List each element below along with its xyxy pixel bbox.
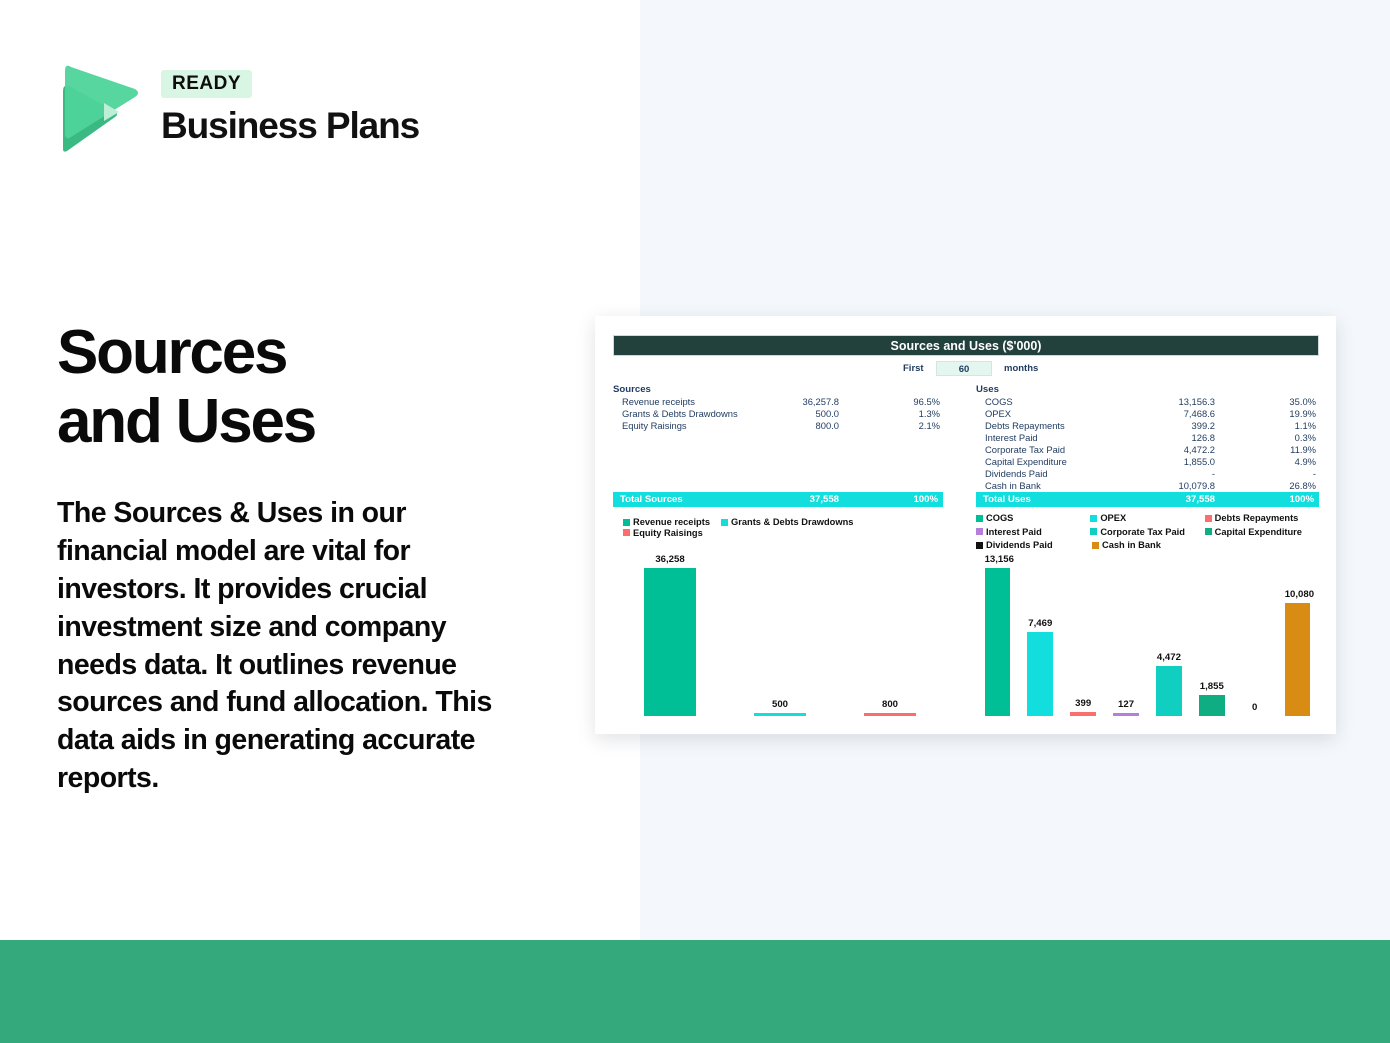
sources-row-value: 36,257.8 xyxy=(803,396,840,408)
sources-rows: Revenue receipts36,257.896.5%Grants & De… xyxy=(613,396,943,432)
sources-row-label: Grants & Debts Drawdowns xyxy=(622,408,738,420)
sources-total-label: Total Sources xyxy=(620,492,683,507)
uses-row-pct: 1.1% xyxy=(1295,420,1316,432)
bar-value-label: 10,080 xyxy=(1285,589,1311,600)
legend-swatch-icon xyxy=(976,515,983,522)
brand-logo[interactable]: READY Business Plans xyxy=(57,58,437,158)
table-row: Revenue receipts36,257.896.5% xyxy=(613,396,943,408)
table-row: OPEX7,468.619.9% xyxy=(976,408,1319,420)
bar xyxy=(1156,666,1182,716)
sources-plot-area: 36,258500800 xyxy=(615,544,945,716)
uses-row-label: Interest Paid xyxy=(985,432,1038,444)
bar xyxy=(754,713,807,716)
uses-row-value: 1,855.0 xyxy=(1184,456,1215,468)
table-row: Dividends Paid-- xyxy=(976,468,1319,480)
legend-swatch-icon xyxy=(721,519,728,526)
bar-group: 800 xyxy=(864,568,917,716)
legend-item: Corporate Tax Paid xyxy=(1090,527,1185,537)
legend-label: Corporate Tax Paid xyxy=(1100,527,1185,537)
legend-item: OPEX xyxy=(1090,513,1126,523)
bar-group: 127 xyxy=(1113,568,1139,716)
bar xyxy=(1070,712,1096,716)
legend-row: COGSOPEXDebts Repayments xyxy=(976,513,1319,524)
months-input[interactable]: 60 xyxy=(936,361,992,376)
bar-value-label: 13,156 xyxy=(985,554,1011,565)
bar-group: 36,258 xyxy=(644,568,697,716)
legend-swatch-icon xyxy=(1090,528,1097,535)
sources-total-row: Total Sources 37,558 100% xyxy=(613,492,943,507)
sources-total-value: 37,558 xyxy=(810,492,839,507)
legend-swatch-icon xyxy=(623,529,630,536)
bar xyxy=(1285,603,1311,716)
bar-group: 13,156 xyxy=(985,568,1011,716)
uses-total-row: Total Uses 37,558 100% xyxy=(976,492,1319,507)
legend-label: COGS xyxy=(986,513,1013,523)
uses-row-label: Corporate Tax Paid xyxy=(985,444,1065,456)
bar-value-label: 4,472 xyxy=(1156,652,1182,663)
bar-value-label: 127 xyxy=(1113,699,1139,710)
sources-row-pct: 2.1% xyxy=(919,420,940,432)
page-title-line-0: Sources xyxy=(57,318,577,387)
uses-row-pct: 11.9% xyxy=(1290,444,1316,456)
page-title: Sourcesand Uses xyxy=(57,318,577,457)
uses-total-value: 37,558 xyxy=(1186,492,1215,507)
bar-value-label: 7,469 xyxy=(1027,618,1053,629)
sources-bar-chart: 36,258500800 xyxy=(615,544,945,716)
bar-group: 399 xyxy=(1070,568,1096,716)
uses-row-value: 13,156.3 xyxy=(1179,396,1216,408)
table-row: Equity Raisings800.02.1% xyxy=(613,420,943,432)
sources-row-value: 800.0 xyxy=(816,420,839,432)
uses-row-label: Dividends Paid xyxy=(985,468,1048,480)
legend-cell: Debts Repayments xyxy=(1205,513,1319,524)
bar xyxy=(644,568,697,716)
table-row: COGS13,156.335.0% xyxy=(976,396,1319,408)
uses-row-value: 4,472.2 xyxy=(1184,444,1215,456)
uses-row-label: OPEX xyxy=(985,408,1011,420)
bar-value-label: 399 xyxy=(1070,698,1096,709)
page-title-line-1: and Uses xyxy=(57,387,577,456)
legend-cell: Capital Expenditure xyxy=(1205,527,1319,538)
uses-row-value: 126.8 xyxy=(1192,432,1215,444)
sheet-title-bar: Sources and Uses ($'000) xyxy=(613,335,1319,356)
uses-header: Uses xyxy=(976,384,1319,395)
uses-total-pct: 100% xyxy=(1289,492,1314,507)
play-triangle-icon xyxy=(57,61,145,153)
bar-group: 7,469 xyxy=(1027,568,1053,716)
legend-cell: OPEX xyxy=(1090,513,1204,524)
bar xyxy=(985,568,1011,716)
sources-spacer xyxy=(613,432,943,492)
bar-group: 10,080 xyxy=(1285,568,1311,716)
uses-row-pct: 35.0% xyxy=(1289,396,1316,408)
bar-value-label: 36,258 xyxy=(644,554,697,565)
uses-row-value: 7,468.6 xyxy=(1184,408,1215,420)
legend-item: Capital Expenditure xyxy=(1205,527,1302,537)
bar-group: 4,472 xyxy=(1156,568,1182,716)
legend-row: Interest PaidCorporate Tax PaidCapital E… xyxy=(976,527,1319,538)
uses-row-pct: 0.3% xyxy=(1295,432,1316,444)
uses-bar-chart: 13,1567,4693991274,4721,855010,080 xyxy=(976,544,1319,716)
legend-label: Interest Paid xyxy=(986,527,1042,537)
bar-value-label: 500 xyxy=(754,699,807,710)
table-row: Debts Repayments399.21.1% xyxy=(976,420,1319,432)
legend-cell: COGS xyxy=(976,513,1090,524)
legend-cell: Corporate Tax Paid xyxy=(1090,527,1204,538)
table-row: Capital Expenditure1,855.04.9% xyxy=(976,456,1319,468)
sources-row-label: Equity Raisings xyxy=(622,420,687,432)
uses-row-label: Debts Repayments xyxy=(985,420,1065,432)
uses-row-label: COGS xyxy=(985,396,1013,408)
bar xyxy=(1199,695,1225,716)
legend-item: Interest Paid xyxy=(976,527,1042,537)
sources-total-pct: 100% xyxy=(913,492,938,507)
brand-name: Business Plans xyxy=(161,107,419,146)
uses-row-value: - xyxy=(1212,468,1215,480)
sources-table: Sources Revenue receipts36,257.896.5%Gra… xyxy=(613,384,943,507)
spreadsheet-screenshot-card: Sources and Uses ($'000) First 60 months… xyxy=(595,316,1336,734)
legend-swatch-icon xyxy=(623,519,630,526)
table-row: Corporate Tax Paid4,472.211.9% xyxy=(976,444,1319,456)
bar-group: 0 xyxy=(1242,568,1268,716)
legend-item: Equity Raisings xyxy=(623,528,703,538)
legend-swatch-icon xyxy=(976,528,983,535)
bottom-accent-band xyxy=(0,940,1390,1043)
first-label: First xyxy=(903,363,924,374)
sources-row-value: 500.0 xyxy=(816,408,839,420)
legend-label: OPEX xyxy=(1100,513,1126,523)
ready-badge: READY xyxy=(161,70,252,98)
bar xyxy=(1027,632,1053,716)
uses-total-label: Total Uses xyxy=(983,492,1031,507)
legend-swatch-icon xyxy=(1090,515,1097,522)
uses-row-value: 10,079.8 xyxy=(1179,480,1216,492)
slide-root: READY Business Plans Sourcesand Uses The… xyxy=(0,0,1390,1043)
uses-row-pct: 26.8% xyxy=(1289,480,1316,492)
sources-row-pct: 96.5% xyxy=(913,396,940,408)
bar-group: 1,855 xyxy=(1199,568,1225,716)
table-row: Grants & Debts Drawdowns500.01.3% xyxy=(613,408,943,420)
bar-group: 500 xyxy=(754,568,807,716)
legend-label: Capital Expenditure xyxy=(1215,527,1302,537)
uses-rows: COGS13,156.335.0%OPEX7,468.619.9%Debts R… xyxy=(976,396,1319,492)
uses-row-label: Capital Expenditure xyxy=(985,456,1067,468)
uses-table: Uses COGS13,156.335.0%OPEX7,468.619.9%De… xyxy=(976,384,1319,507)
legend-label: Debts Repayments xyxy=(1215,513,1299,523)
legend-label: Equity Raisings xyxy=(633,528,703,538)
legend-item: COGS xyxy=(976,513,1013,523)
uses-row-value: 399.2 xyxy=(1192,420,1215,432)
legend-cell: Interest Paid xyxy=(976,527,1090,538)
sources-header: Sources xyxy=(613,384,943,395)
bar-value-label: 800 xyxy=(864,699,917,710)
bar xyxy=(864,713,917,716)
uses-row-pct: 19.9% xyxy=(1289,408,1316,420)
legend-label: Grants & Debts Drawdowns xyxy=(731,517,853,527)
uses-plot-area: 13,1567,4693991274,4721,855010,080 xyxy=(976,544,1319,716)
uses-row-pct: 4.9% xyxy=(1295,456,1316,468)
bar-value-label: 1,855 xyxy=(1199,681,1225,692)
sources-row-label: Revenue receipts xyxy=(622,396,695,408)
bar-value-label: 0 xyxy=(1242,702,1268,713)
months-label: months xyxy=(1004,363,1038,374)
legend-label: Revenue receipts xyxy=(633,517,710,527)
bar xyxy=(1113,713,1139,716)
logo-wordmark: READY Business Plans xyxy=(161,70,419,146)
legend-item: Revenue receipts xyxy=(623,517,710,527)
body-paragraph: The Sources & Uses in our financial mode… xyxy=(57,495,497,798)
period-selector-row: First 60 months xyxy=(613,361,1319,378)
legend-item: Grants & Debts Drawdowns xyxy=(721,517,853,527)
uses-row-label: Cash in Bank xyxy=(985,480,1041,492)
table-row: Cash in Bank10,079.826.8% xyxy=(976,480,1319,492)
sources-row-pct: 1.3% xyxy=(919,408,940,420)
legend-swatch-icon xyxy=(1205,515,1212,522)
sources-chart-legend: Revenue receiptsGrants & Debts Drawdowns… xyxy=(623,517,953,538)
legend-swatch-icon xyxy=(1205,528,1212,535)
uses-row-pct: - xyxy=(1313,468,1316,480)
table-row: Interest Paid126.80.3% xyxy=(976,432,1319,444)
legend-item: Debts Repayments xyxy=(1205,513,1299,523)
